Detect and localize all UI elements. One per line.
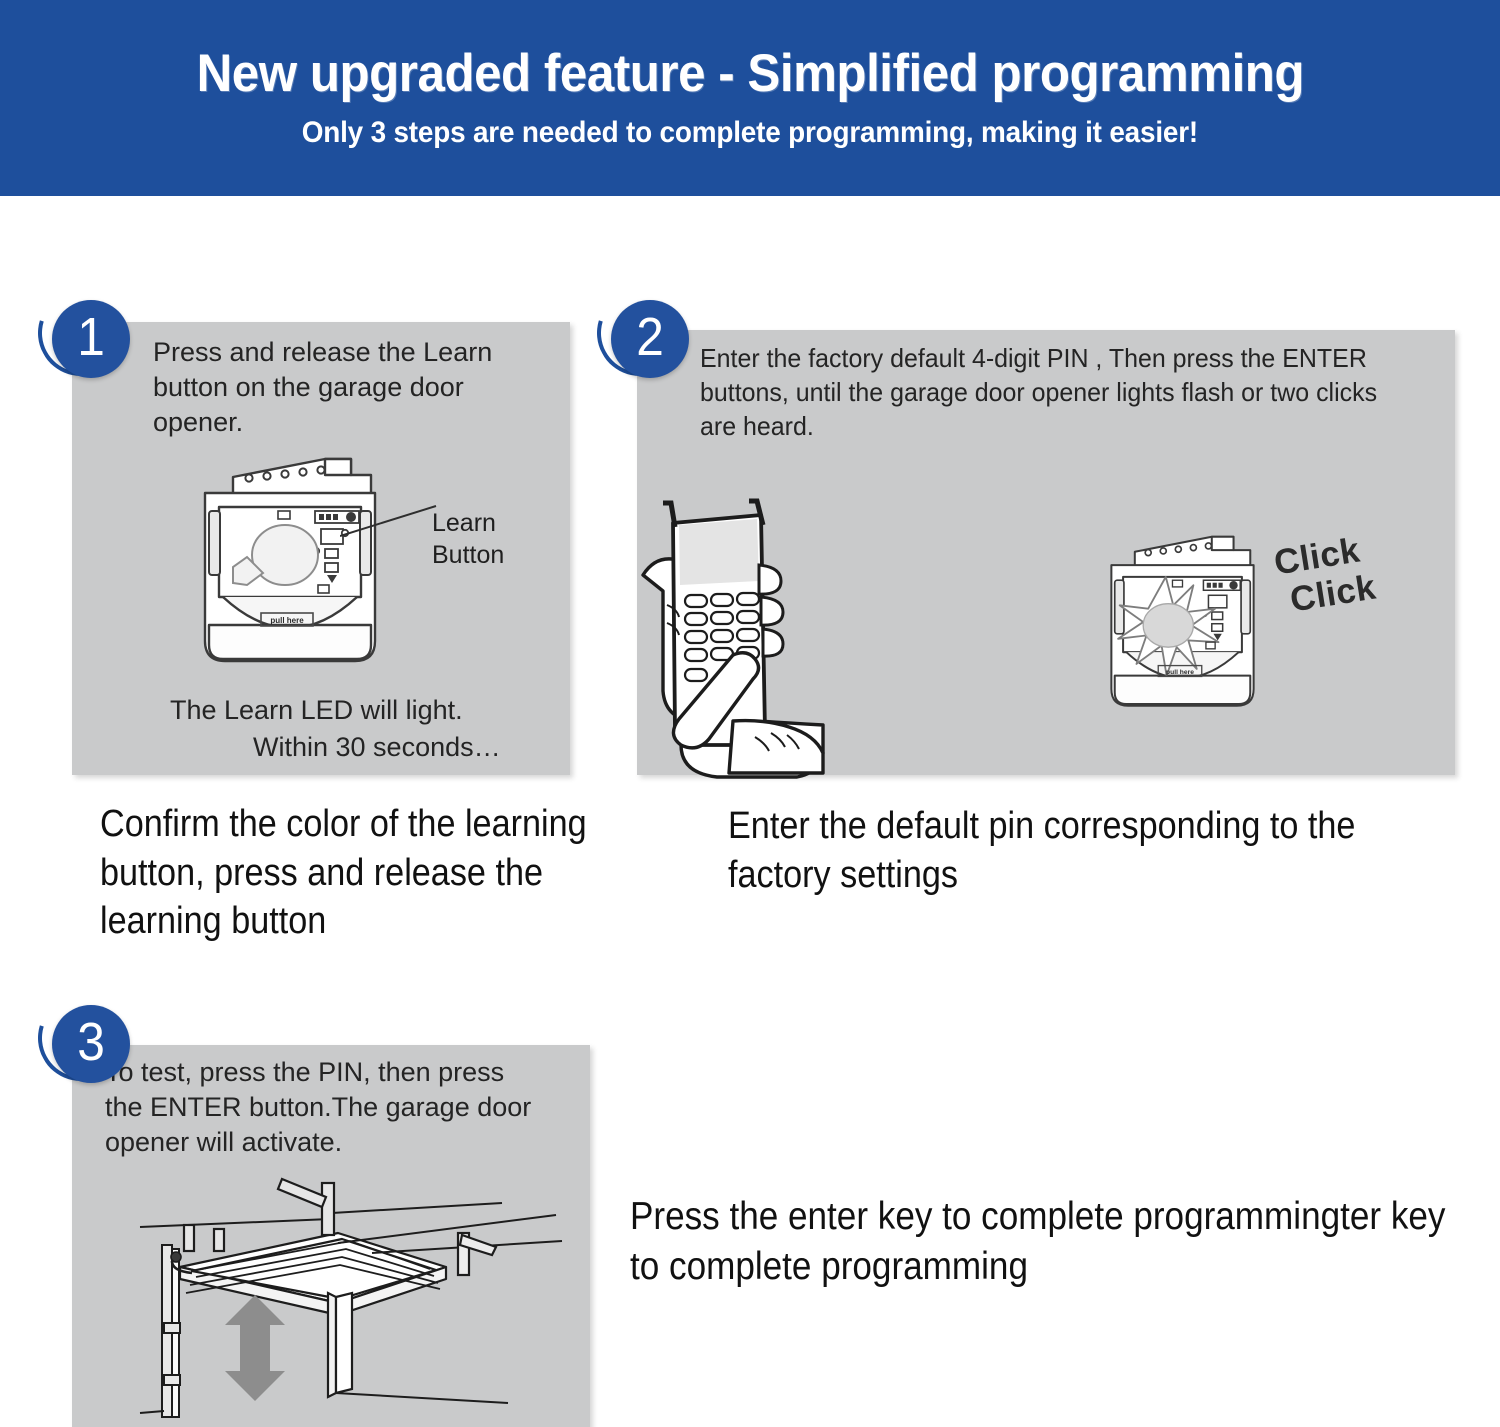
step-1-badge: 1: [52, 300, 130, 378]
step-2-keypad-illustration: [637, 495, 897, 775]
step-badge-disc: 1: [52, 300, 130, 378]
step-2-instruction-text: Enter the factory default 4-digit PIN , …: [700, 342, 1410, 443]
step-1-note-line-2: Within 30 seconds…: [253, 730, 501, 765]
step-1-note-line-1: The Learn LED will light.: [170, 693, 463, 728]
step-1-caption: Confirm the color of the learning button…: [100, 800, 604, 946]
header-banner: New upgraded feature - Simplified progra…: [0, 0, 1500, 196]
garage-door-opener-flash-icon: pull here: [1085, 525, 1280, 730]
step-2-caption: Enter the default pin corresponding to t…: [728, 802, 1430, 899]
step-3-badge: 3: [52, 1005, 130, 1083]
step-2-number: 2: [636, 310, 664, 364]
step-badge-disc: 2: [611, 300, 689, 378]
step-3-illustration: [110, 1175, 580, 1427]
step-3-number: 3: [77, 1015, 105, 1069]
step-2-click-labels: Click Click: [1271, 529, 1378, 621]
step-3-instruction-text: To test, press the PIN, then press the E…: [105, 1055, 545, 1160]
step-badge-disc: 3: [52, 1005, 130, 1083]
step-2-opener-illustration: pull here: [1085, 525, 1280, 730]
learn-button-callout-line2: Button: [432, 539, 504, 571]
svg-text:pull here: pull here: [1166, 669, 1194, 676]
page-subtitle: Only 3 steps are needed to complete prog…: [302, 116, 1198, 150]
step-1-instruction-text: Press and release the Learn button on th…: [153, 335, 525, 440]
hand-pressing-keypad-icon: [637, 495, 897, 780]
learn-button-callout: Learn Button: [432, 507, 504, 571]
garage-door-opener-icon: pull here: [175, 445, 405, 690]
svg-text:pull here: pull here: [270, 616, 304, 625]
learn-button-callout-line1: Learn: [432, 507, 504, 539]
step-1-illustration: pull here: [175, 445, 405, 685]
step-2-badge: 2: [611, 300, 689, 378]
page-title: New upgraded feature - Simplified progra…: [196, 46, 1303, 102]
step-3-caption: Press the enter key to complete programm…: [630, 1192, 1458, 1292]
up-down-arrow-icon: [225, 1295, 285, 1401]
garage-door-icon: [110, 1175, 580, 1427]
infographic-page: New upgraded feature - Simplified progra…: [0, 0, 1500, 1427]
step-1-number: 1: [77, 310, 105, 364]
